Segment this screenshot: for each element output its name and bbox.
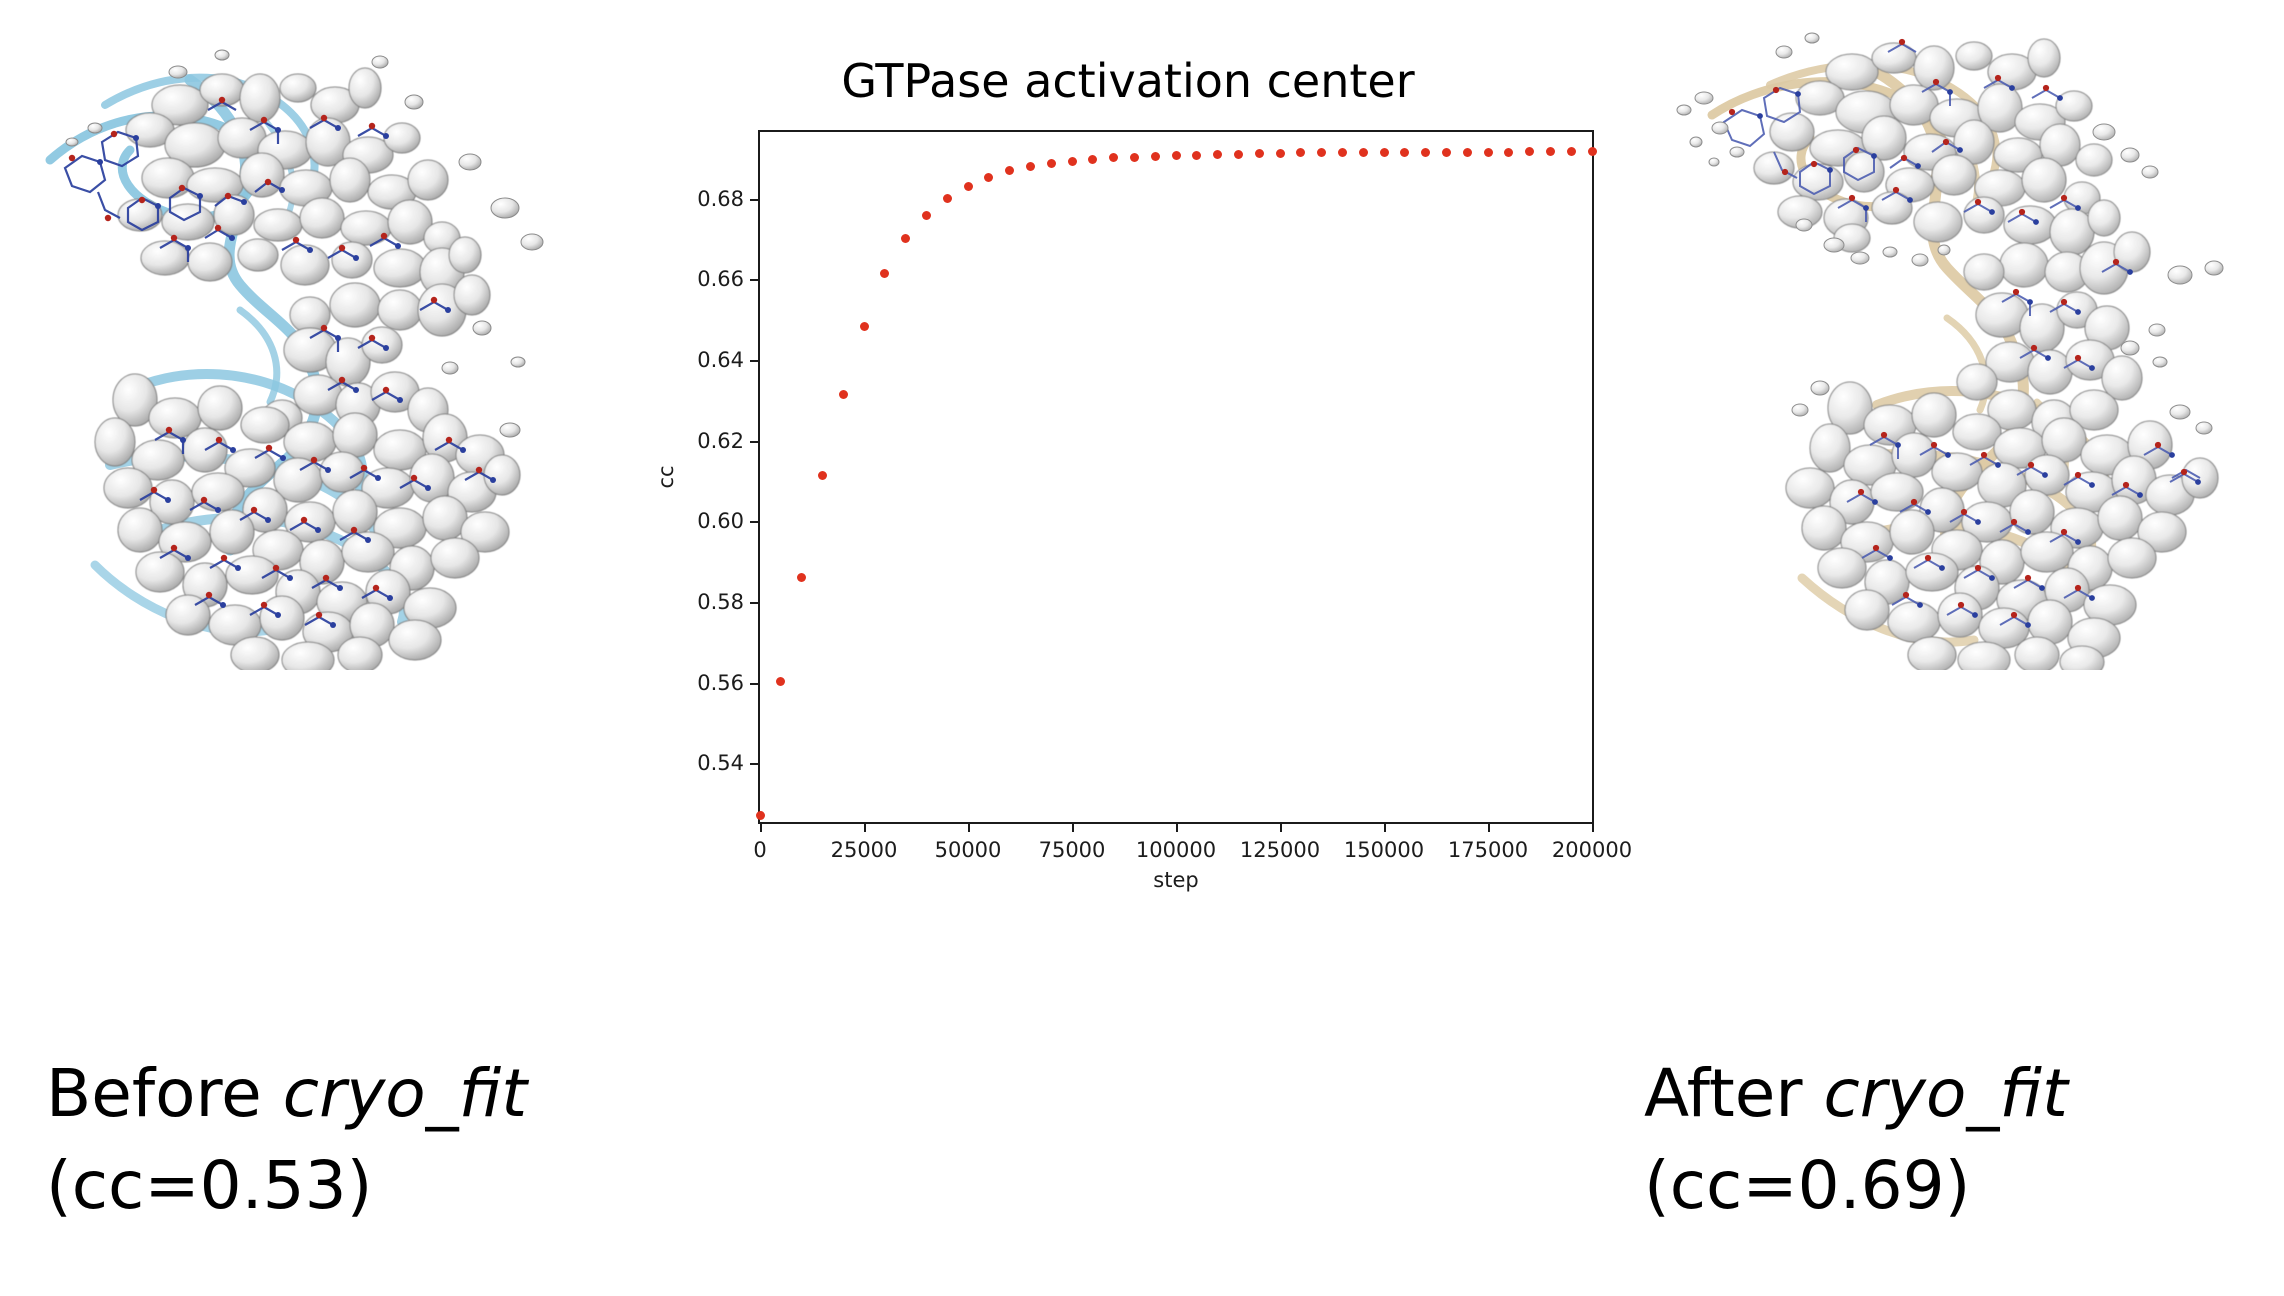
data-point (1192, 151, 1201, 160)
data-point (1068, 157, 1077, 166)
data-point (984, 173, 993, 182)
caption-after: After cryo_fit (cc=0.69) (1644, 1048, 2068, 1232)
plot-area: 0.540.560.580.600.620.640.660.6802500050… (758, 130, 1594, 824)
y-tick-mark (750, 441, 760, 443)
y-tick-mark (750, 199, 760, 201)
x-axis-label: step (758, 868, 1594, 892)
data-point (1255, 149, 1264, 158)
data-point (1151, 152, 1160, 161)
x-tick-label: 75000 (1039, 838, 1106, 862)
y-tick-label: 0.58 (697, 590, 744, 614)
data-point (1276, 149, 1285, 158)
data-point (1359, 148, 1368, 157)
data-point (1005, 166, 1014, 175)
x-tick-mark (1592, 822, 1594, 832)
caption-before-line2: (cc=0.53) (46, 1140, 527, 1232)
caption-before-tool-name: cryo_fit (283, 1055, 527, 1132)
caption-after-line1: After cryo_fit (1644, 1048, 2068, 1140)
data-point (1338, 148, 1347, 157)
density-blobs-upper-before (118, 68, 490, 336)
data-point (1088, 155, 1097, 164)
data-point (1588, 147, 1597, 156)
x-tick-label: 200000 (1552, 838, 1632, 862)
data-point (1213, 150, 1222, 159)
data-point (901, 234, 910, 243)
data-point (1026, 162, 1035, 171)
data-point (1463, 148, 1472, 157)
data-point (1317, 148, 1326, 157)
caption-after-tool-name: cryo_fit (1823, 1055, 2067, 1132)
y-tick-mark (750, 521, 760, 523)
y-tick-label: 0.66 (697, 267, 744, 291)
data-point (1296, 148, 1305, 157)
data-point (1504, 148, 1513, 157)
data-point (1484, 148, 1493, 157)
caption-after-prefix: After (1644, 1055, 1823, 1132)
data-point (860, 322, 869, 331)
y-tick-mark (750, 763, 760, 765)
x-tick-label: 0 (753, 838, 766, 862)
data-point (1400, 148, 1409, 157)
caption-before-prefix: Before (46, 1055, 283, 1132)
caption-before-line1: Before cryo_fit (46, 1048, 527, 1140)
caption-after-line2: (cc=0.69) (1644, 1140, 2068, 1232)
data-point (1172, 151, 1181, 160)
data-point (1109, 153, 1118, 162)
y-tick-label: 0.54 (697, 751, 744, 775)
data-point (1421, 148, 1430, 157)
y-tick-label: 0.62 (697, 429, 744, 453)
cc-vs-step-chart: GTPase activation center 0.540.560.580.6… (628, 28, 1628, 668)
caption-before: Before cryo_fit (cc=0.53) (46, 1048, 527, 1232)
after-cryo-fit-structure-image (1652, 10, 2272, 670)
data-point (756, 811, 765, 820)
data-point (964, 182, 973, 191)
data-point (776, 677, 785, 686)
x-tick-label: 150000 (1344, 838, 1424, 862)
x-tick-mark (968, 822, 970, 832)
y-tick-label: 0.68 (697, 187, 744, 211)
data-point (1234, 150, 1243, 159)
chart-title: GTPase activation center (628, 54, 1628, 108)
x-tick-mark (1384, 822, 1386, 832)
data-point (1380, 148, 1389, 157)
before-cryo-fit-structure-image (10, 10, 630, 670)
y-tick-mark (750, 683, 760, 685)
y-tick-mark (750, 602, 760, 604)
x-tick-label: 25000 (831, 838, 898, 862)
x-tick-mark (864, 822, 866, 832)
data-point (797, 573, 806, 582)
x-tick-label: 175000 (1448, 838, 1528, 862)
data-point (1047, 159, 1056, 168)
y-tick-label: 0.60 (697, 509, 744, 533)
data-point (818, 471, 827, 480)
x-tick-label: 50000 (935, 838, 1002, 862)
x-tick-label: 125000 (1240, 838, 1320, 862)
data-point (839, 390, 848, 399)
x-tick-mark (1488, 822, 1490, 832)
data-point (880, 269, 889, 278)
data-point (1567, 147, 1576, 156)
data-point (1442, 148, 1451, 157)
y-tick-mark (750, 360, 760, 362)
x-tick-label: 100000 (1136, 838, 1216, 862)
x-tick-mark (760, 822, 762, 832)
data-point (943, 194, 952, 203)
y-tick-label: 0.64 (697, 348, 744, 372)
x-tick-mark (1280, 822, 1282, 832)
y-axis-label: cc (654, 465, 678, 488)
cryo-em-density-map-before (10, 10, 630, 670)
data-point (922, 211, 931, 220)
x-tick-mark (1072, 822, 1074, 832)
cryo-em-density-map-after (1652, 10, 2272, 670)
density-blobs-lower-before (95, 374, 520, 670)
data-point (1525, 147, 1534, 156)
data-point (1546, 147, 1555, 156)
x-tick-mark (1176, 822, 1178, 832)
y-tick-mark (750, 279, 760, 281)
y-tick-label: 0.56 (697, 671, 744, 695)
data-point (1130, 153, 1139, 162)
